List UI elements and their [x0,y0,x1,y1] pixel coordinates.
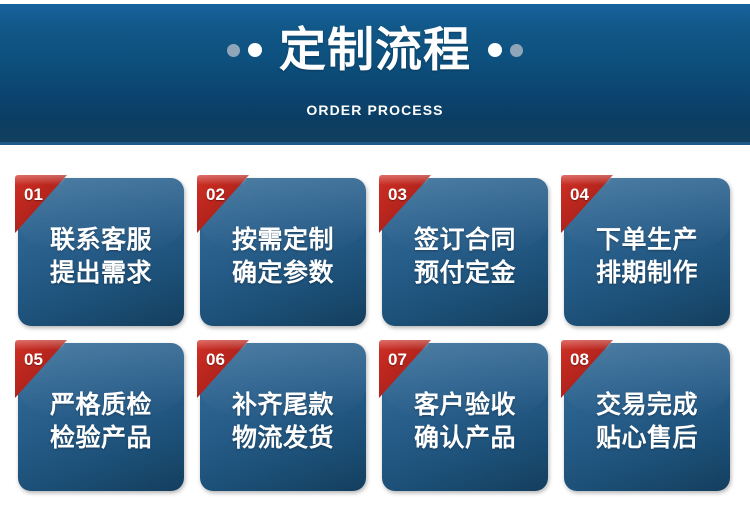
step-line-1: 客户验收 [382,389,548,422]
dot-gray-icon [227,44,240,57]
step-text: 补齐尾款 物流发货 [200,389,366,454]
step-text: 联系客服 提出需求 [18,224,184,289]
step-text: 严格质检 检验产品 [18,389,184,454]
decorative-dots-right [488,43,523,59]
step-text: 签订合同 预付定金 [382,224,548,289]
dot-white-icon [248,43,262,57]
steps-grid: 01 联系客服 提出需求 02 按需定制 确定参数 03 [18,178,732,498]
step-line-1: 下单生产 [564,224,730,257]
page-subtitle: ORDER PROCESS [0,102,750,118]
step-card: 06 补齐尾款 物流发货 [200,343,366,491]
ribbon-highlight [197,340,249,350]
ribbon-highlight [379,340,431,350]
ribbon-highlight [15,340,67,350]
step-text: 客户验收 确认产品 [382,389,548,454]
step-line-2: 提出需求 [18,257,184,290]
step-line-2: 检验产品 [18,422,184,455]
step-text: 按需定制 确定参数 [200,224,366,289]
step-line-2: 预付定金 [382,257,548,290]
step-card: 05 严格质检 检验产品 [18,343,184,491]
ribbon-highlight [561,340,613,350]
step-text: 下单生产 排期制作 [564,224,730,289]
step-line-2: 确认产品 [382,422,548,455]
order-process-infographic: 定制流程 ORDER PROCESS 01 联系客服 提出需求 [0,0,750,520]
step-number: 01 [24,186,43,203]
step-card: 08 交易完成 贴心售后 [564,343,730,491]
dot-white-icon [488,43,502,57]
step-number: 05 [24,351,43,368]
step-line-1: 按需定制 [200,224,366,257]
ribbon-highlight [15,175,67,185]
step-text: 交易完成 贴心售后 [564,389,730,454]
step-line-1: 联系客服 [18,224,184,257]
ribbon-highlight [379,175,431,185]
dot-gray-icon [510,44,523,57]
ribbon-highlight [197,175,249,185]
step-line-2: 贴心售后 [564,422,730,455]
step-line-1: 补齐尾款 [200,389,366,422]
header-banner: 定制流程 ORDER PROCESS [0,4,750,145]
step-number: 02 [206,186,225,203]
step-number: 07 [388,351,407,368]
page-title: 定制流程 [271,26,479,75]
step-line-1: 严格质检 [18,389,184,422]
step-line-2: 确定参数 [200,257,366,290]
ribbon-highlight [561,175,613,185]
step-number: 06 [206,351,225,368]
step-line-1: 签订合同 [382,224,548,257]
step-line-2: 物流发货 [200,422,366,455]
decorative-dots-left [227,43,262,59]
step-number: 03 [388,186,407,203]
step-card: 07 客户验收 确认产品 [382,343,548,491]
step-card: 04 下单生产 排期制作 [564,178,730,326]
step-number: 04 [570,186,589,203]
banner-inner: 定制流程 ORDER PROCESS [0,4,750,142]
title-row: 定制流程 [0,26,750,75]
step-card: 03 签订合同 预付定金 [382,178,548,326]
step-line-2: 排期制作 [564,257,730,290]
step-card: 02 按需定制 确定参数 [200,178,366,326]
step-card: 01 联系客服 提出需求 [18,178,184,326]
step-number: 08 [570,351,589,368]
step-line-1: 交易完成 [564,389,730,422]
